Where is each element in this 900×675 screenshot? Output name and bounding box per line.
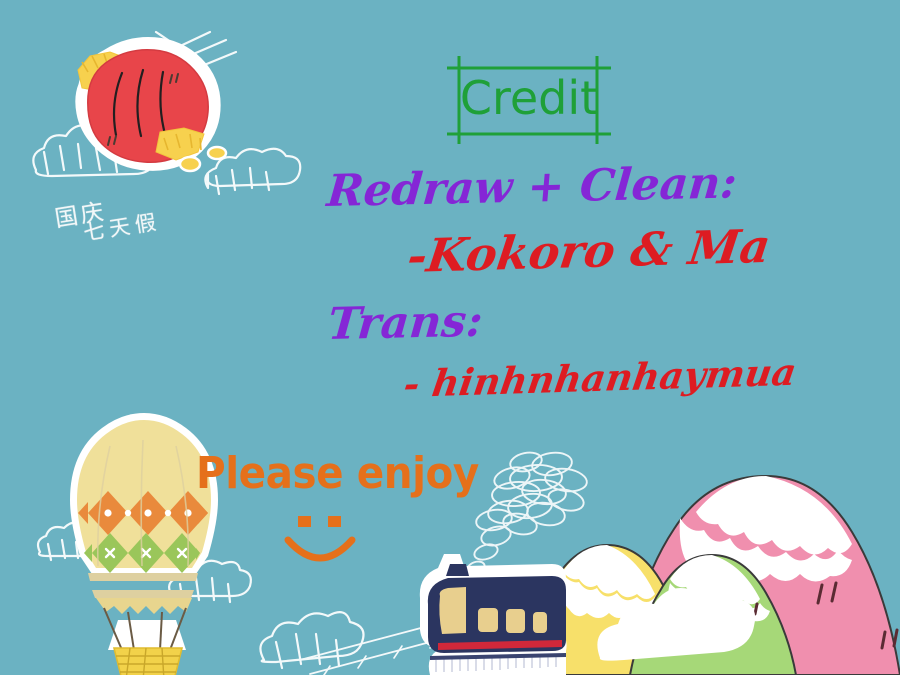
smiley-mouth (288, 540, 352, 558)
credits-page: 国庆 七天假 (0, 0, 900, 675)
smiley-eye-left (298, 516, 311, 527)
smiley-eye-right (328, 516, 341, 527)
smiley-face-icon (0, 0, 900, 675)
